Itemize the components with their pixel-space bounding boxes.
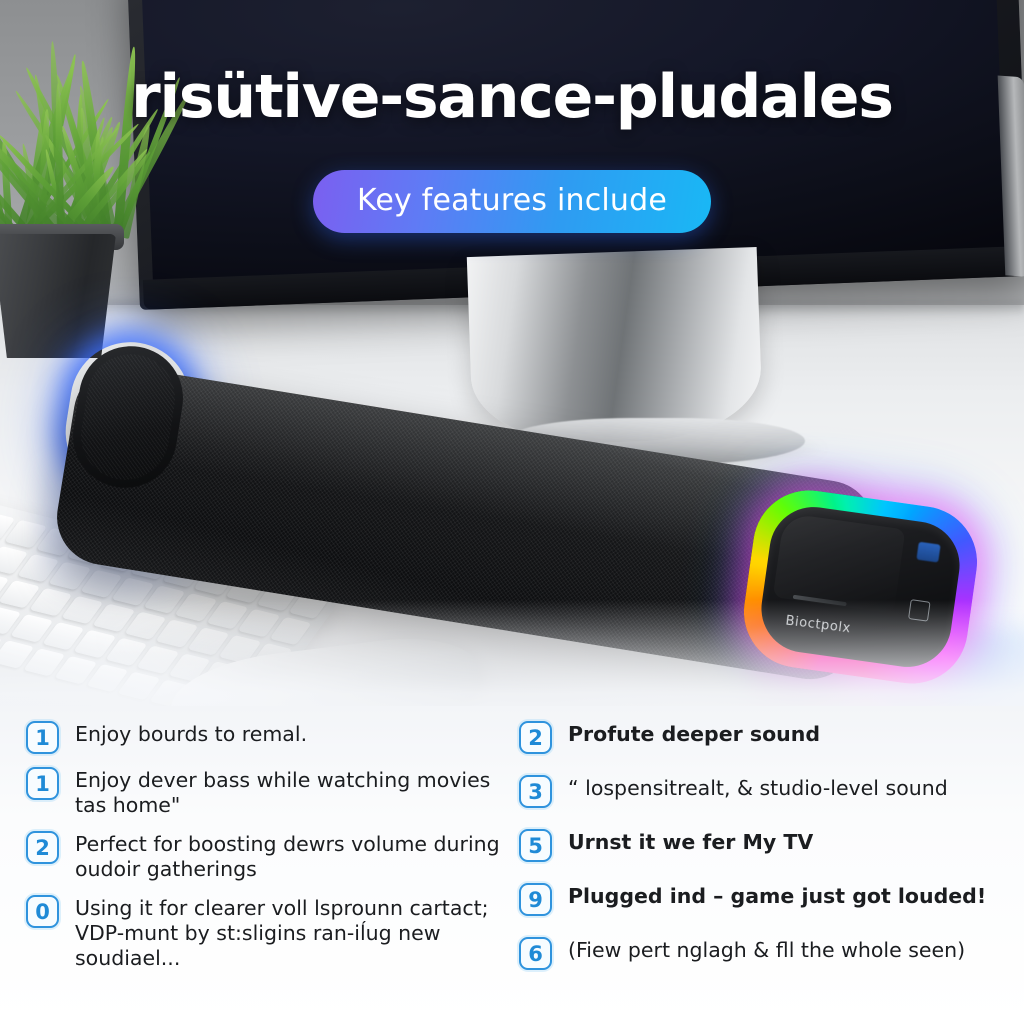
key-features-badge: Key features include — [313, 170, 711, 233]
product-infographic: Bioctpolx risütive-sance-pludales Key fe… — [0, 0, 1024, 1024]
soundbar-control-face: Bioctpolx — [756, 501, 965, 672]
product-logo: Bioctpolx — [785, 614, 852, 637]
page-title: risütive-sance-pludales — [0, 62, 1024, 132]
soundbar-right-module: Bioctpolx — [737, 483, 985, 691]
feature-number-badge: 1 — [26, 721, 59, 754]
feature-number-badge: 3 — [519, 775, 552, 808]
product-photo: Bioctpolx risütive-sance-pludales Key fe… — [0, 0, 1024, 712]
feature-item: 9Plugged ind – game just got louded! — [519, 880, 998, 916]
feature-item: 3“ lospensitrealt, & studio-level sound — [519, 772, 998, 808]
features-column-left: 1Enjoy bourds to remal.1Enjoy dever bass… — [26, 718, 505, 1024]
feature-number-badge: 9 — [519, 883, 552, 916]
feature-text: Using it for clearer voll lsprounn carta… — [75, 892, 505, 971]
feature-item: 0Using it for clearer voll lsprounn cart… — [26, 892, 505, 971]
feature-number-badge: 1 — [26, 767, 59, 800]
feature-text: Plugged ind – game just got louded! — [568, 880, 986, 909]
feature-text: Urnst it we fer My TV — [568, 826, 813, 855]
feature-number-badge: 6 — [519, 937, 552, 970]
feature-number-badge: 2 — [519, 721, 552, 754]
feature-number-badge: 0 — [26, 895, 59, 928]
feature-number-badge: 2 — [26, 831, 59, 864]
feature-text: (Fiew pert nglagh & fll the whole seen) — [568, 934, 965, 963]
feature-item: 1Enjoy bourds to remal. — [26, 718, 505, 754]
features-column-right: 2Profute deeper sound3“ lospensitrealt, … — [519, 718, 998, 1024]
soundbar: Bioctpolx — [30, 330, 1010, 710]
bluetooth-indicator-icon — [916, 542, 940, 563]
monitor-screen — [141, 0, 1006, 283]
feature-text: Profute deeper sound — [568, 718, 820, 747]
feature-item: 5Urnst it we fer My TV — [519, 826, 998, 862]
feature-number-badge: 5 — [519, 829, 552, 862]
feature-item: 2Perfect for boosting dewrs volume durin… — [26, 828, 505, 882]
feature-item: 2Profute deeper sound — [519, 718, 998, 754]
mode-button-icon[interactable] — [908, 599, 931, 622]
feature-item: 1Enjoy dever bass while watching movies … — [26, 764, 505, 818]
soundbar-left-cap-fabric — [75, 348, 182, 486]
feature-text: Perfect for boosting dewrs volume during… — [75, 828, 505, 882]
feature-text: “ lospensitrealt, & studio-level sound — [568, 772, 948, 801]
feature-item: 6(Fiew pert nglagh & fll the whole seen) — [519, 934, 998, 970]
features-section: 1Enjoy bourds to remal.1Enjoy dever bass… — [0, 706, 1024, 1024]
feature-text: Enjoy dever bass while watching movies t… — [75, 764, 505, 818]
feature-text: Enjoy bourds to remal. — [75, 718, 307, 747]
key-badge-row: Key features include — [0, 170, 1024, 233]
